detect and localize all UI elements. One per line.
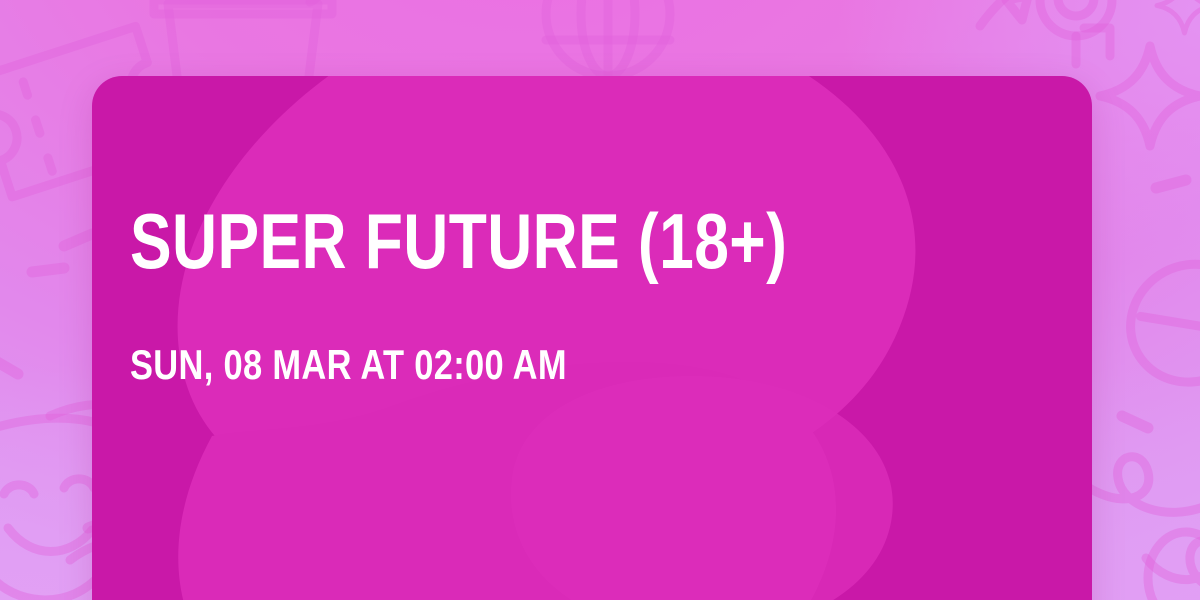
- event-card[interactable]: SUPER FUTURE (18+) SUN, 08 MAR AT 02:00 …: [92, 76, 1092, 600]
- event-banner: SUPER FUTURE (18+) SUN, 08 MAR AT 02:00 …: [0, 0, 1200, 600]
- event-datetime: SUN, 08 MAR AT 02:00 AM: [130, 344, 567, 386]
- event-title: SUPER FUTURE (18+): [130, 202, 787, 280]
- event-card-content: SUPER FUTURE (18+) SUN, 08 MAR AT 02:00 …: [130, 76, 1030, 600]
